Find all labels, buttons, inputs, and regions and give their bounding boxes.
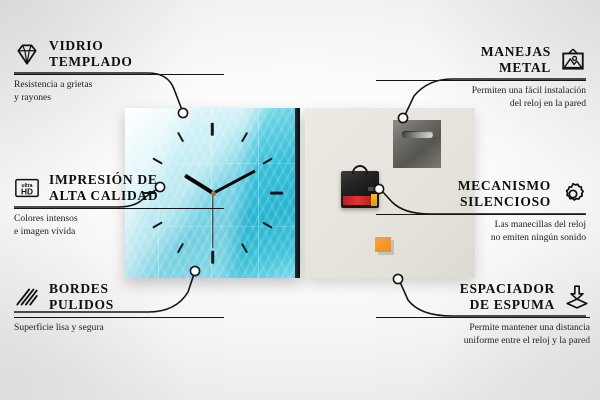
- feature-header: VIDRIO TEMPLADO: [14, 38, 224, 70]
- svg-text:HD: HD: [21, 186, 33, 196]
- picture-hanger-icon: [560, 47, 586, 73]
- feature-description: Permite mantener una distancia uniforme …: [376, 322, 590, 347]
- feature-header: MANEJAS METAL: [376, 44, 586, 76]
- feature-description: Las manecillas del reloj no emiten ningú…: [376, 219, 586, 244]
- diamond-icon: [14, 41, 40, 67]
- feature-bordes-pulidos: BORDES PULIDOS Superficie lisa y segura: [14, 281, 224, 335]
- mechanism-loop: [352, 165, 368, 174]
- divider: [14, 74, 224, 75]
- divider: [376, 214, 586, 215]
- clock-hour-marker: [211, 122, 214, 135]
- divider: [376, 317, 590, 318]
- feature-description: Permiten una fácil instalación del reloj…: [376, 85, 586, 110]
- feature-header: ESPACIADOR DE ESPUMA: [376, 281, 590, 313]
- feature-header: MECANISMO SILENCIOSO: [376, 178, 586, 210]
- feature-title: BORDES PULIDOS: [49, 281, 114, 313]
- feature-header: BORDES PULIDOS: [14, 281, 224, 313]
- feature-title: IMPRESIÓN DE ALTA CALIDAD: [49, 172, 158, 204]
- feature-header: ultra HD IMPRESIÓN DE ALTA CALIDAD: [14, 172, 224, 204]
- mechanism-chip: [368, 187, 375, 191]
- divider: [376, 80, 586, 81]
- feature-title: ESPACIADOR DE ESPUMA: [460, 281, 555, 313]
- infographic-canvas: VIDRIO TEMPLADO Resistencia a grietas y …: [0, 0, 600, 400]
- ultra-hd-icon: ultra HD: [14, 175, 40, 201]
- foam-spacer-icon: [564, 284, 590, 310]
- feature-description: Superficie lisa y segura: [14, 322, 224, 335]
- feature-title: MECANISMO SILENCIOSO: [458, 178, 551, 210]
- glass-pane-line: [258, 108, 259, 278]
- clock-hour-marker: [270, 192, 283, 195]
- clock-hour-marker: [177, 243, 184, 254]
- battery-compartment: [343, 196, 376, 205]
- divider: [14, 317, 224, 318]
- hanger-slot: [402, 131, 433, 138]
- feature-impresion-alta-calidad: ultra HD IMPRESIÓN DE ALTA CALIDAD Color…: [14, 172, 224, 239]
- clock-hour-marker: [177, 132, 184, 143]
- clock-hour-marker: [263, 221, 274, 228]
- feature-description: Resistencia a grietas y rayones: [14, 79, 224, 104]
- glass-edge: [295, 108, 300, 278]
- feature-mecanismo-silencioso: MECANISMO SILENCIOSO Las manecillas del …: [376, 178, 586, 245]
- polished-edges-icon: [14, 284, 40, 310]
- clock-hour-marker: [241, 132, 248, 143]
- feature-manejas-metal: MANEJAS METAL Permiten una fácil instala…: [376, 44, 586, 111]
- glass-pane-line: [125, 163, 300, 164]
- feature-description: Colores intensos e imagen vívida: [14, 213, 224, 238]
- feature-title: VIDRIO TEMPLADO: [49, 38, 133, 70]
- clock-hour-marker: [211, 250, 214, 263]
- feature-espaciador-espuma: ESPACIADOR DE ESPUMA Permite mantener un…: [376, 281, 590, 348]
- divider: [14, 208, 224, 209]
- gear-icon: [560, 181, 586, 207]
- clock-hour-marker: [241, 243, 248, 254]
- clock-mechanism: [341, 171, 379, 208]
- metal-hanger-plate: [393, 120, 441, 168]
- feature-title: MANEJAS METAL: [481, 44, 551, 76]
- feature-vidrio-templado: VIDRIO TEMPLADO Resistencia a grietas y …: [14, 38, 224, 105]
